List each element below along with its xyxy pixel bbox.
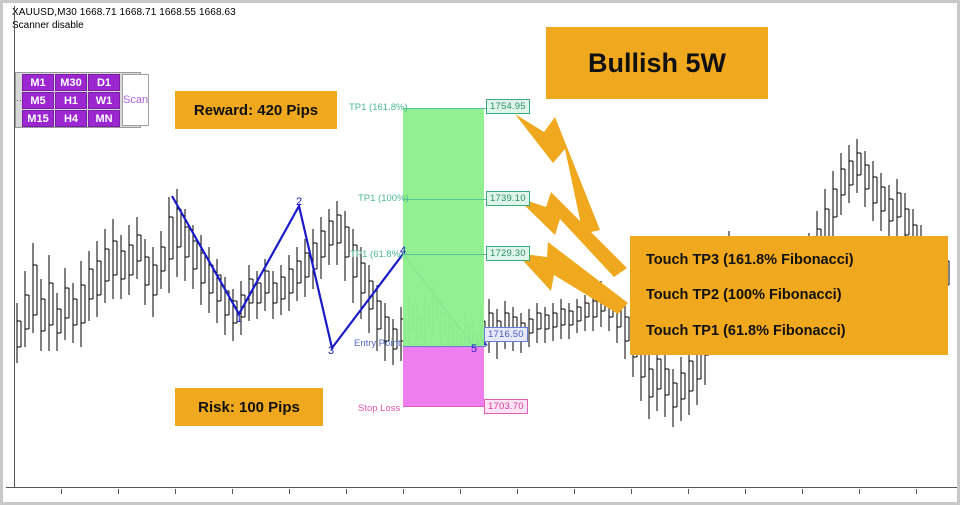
risk-callout: Risk: 100 Pips [175,388,323,426]
level-label-tp3: TP1 (161.8%) [349,102,408,113]
risk-zone [403,346,484,406]
chart-canvas[interactable]: TP1 (161.8%) 1754.95 TP1 (100%) 1739.10 … [3,3,957,502]
reward-zone [403,108,484,346]
timeframe-button-w1[interactable]: W1 [88,92,120,109]
timeframe-panel[interactable]: ·· M1 M30 D1 M5 H1 W1 M15 H4 MN Scan [15,72,141,128]
pattern-title-callout: Bullish 5W [546,27,768,99]
timeframe-button-grid: M1 M30 D1 M5 H1 W1 M15 H4 MN [22,73,120,127]
time-axis-ticks [6,488,957,494]
level-line-stoploss [403,406,486,407]
timeframe-button-m5[interactable]: M5 [22,92,54,109]
touch-targets-callout: Touch TP3 (161.8% Fibonacci) Touch TP2 (… [630,236,948,355]
chart-window: TP1 (161.8%) 1754.95 TP1 (100%) 1739.10 … [0,0,960,505]
level-line-tp1 [403,254,486,255]
price-tag-tp1: 1729.30 [486,246,530,261]
timeframe-button-d1[interactable]: D1 [88,74,120,91]
level-label-stoploss: Stop Loss [358,403,400,414]
timeframe-button-m1[interactable]: M1 [22,74,54,91]
timeframe-button-m15[interactable]: M15 [22,110,54,127]
scanner-status-line: Scanner disable [12,20,84,31]
reward-callout: Reward: 420 Pips [175,91,337,129]
wave-label-3: 3 [328,345,334,357]
level-label-tp2: TP1 (100%) [358,193,409,204]
price-axis [14,6,15,488]
touch-target-tp2: Touch TP2 (100% Fibonacci) [646,287,948,303]
callout-arrows [515,114,628,314]
timeframe-button-mn[interactable]: MN [88,110,120,127]
level-label-entry: Entry Point [354,338,400,349]
price-tag-entry: 1716.50 [484,327,528,342]
price-tag-tp3: 1754.95 [486,99,530,114]
scan-button[interactable]: Scan [122,74,149,126]
symbol-quote-line: XAUUSD,M30 1668.71 1668.71 1668.55 1668.… [12,7,236,18]
wave-label-2: 2 [296,196,302,208]
wave-label-4: 4 [400,245,406,257]
timeframe-button-h4[interactable]: H4 [55,110,87,127]
touch-target-tp3: Touch TP3 (161.8% Fibonacci) [646,252,948,268]
level-line-tp2 [403,199,486,200]
price-tag-tp2: 1739.10 [486,191,530,206]
level-line-tp3 [403,108,486,109]
timeframe-button-m30[interactable]: M30 [55,74,87,91]
level-label-tp1: TP1 (61.8%) [350,249,403,260]
timeframe-button-h1[interactable]: H1 [55,92,87,109]
touch-target-tp1: Touch TP1 (61.8% Fibonacci) [646,323,948,339]
wave-label-5: 5 [471,343,477,355]
price-tag-stoploss: 1703.70 [484,399,528,414]
wave-label-1: 1 [236,313,242,325]
